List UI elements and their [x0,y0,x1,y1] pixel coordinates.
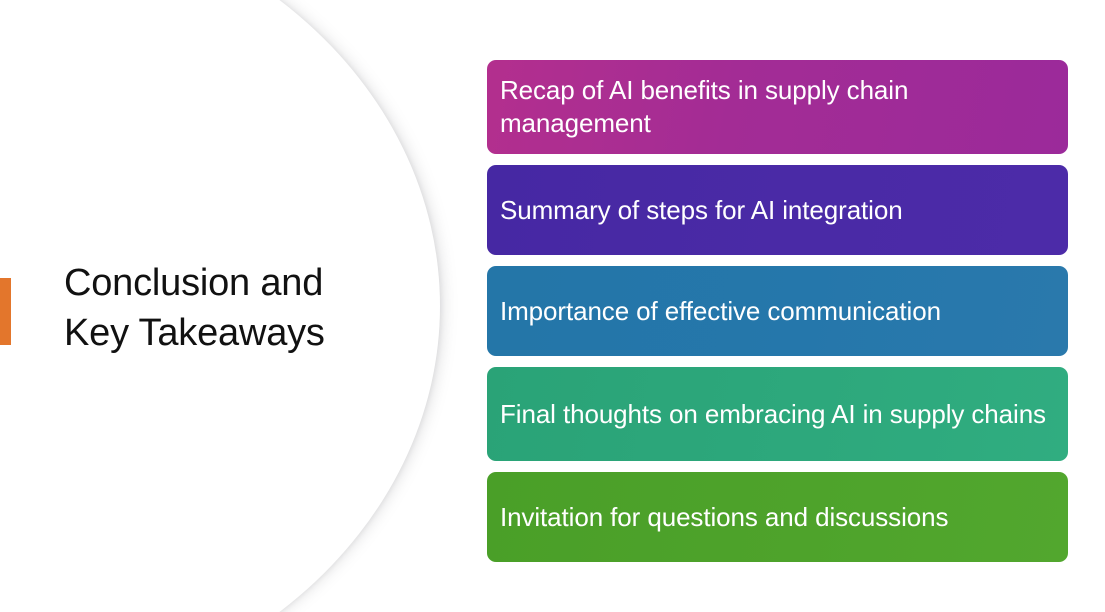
slide-canvas: Conclusion and Key Takeaways Recap of AI… [0,0,1105,612]
list-item[interactable]: Summary of steps for AI integration [487,165,1068,255]
page-title-line-2: Key Takeaways [64,308,394,358]
list-item-label: Importance of effective communication [500,295,1050,328]
list-item-label: Recap of AI benefits in supply chain man… [500,74,1050,140]
list-item-label: Summary of steps for AI integration [500,194,1050,227]
title-accent-bar [0,278,11,345]
list-item[interactable]: Importance of effective communication [487,266,1068,356]
page-title-line-1: Conclusion and [64,258,394,308]
list-item[interactable]: Recap of AI benefits in supply chain man… [487,60,1068,154]
key-takeaways-list: Recap of AI benefits in supply chain man… [487,60,1068,560]
list-item[interactable]: Final thoughts on embracing AI in supply… [487,367,1068,461]
page-title: Conclusion and Key Takeaways [64,258,394,358]
list-item[interactable]: Invitation for questions and discussions [487,472,1068,562]
list-item-label: Invitation for questions and discussions [500,501,1050,534]
list-item-label: Final thoughts on embracing AI in supply… [500,398,1050,431]
